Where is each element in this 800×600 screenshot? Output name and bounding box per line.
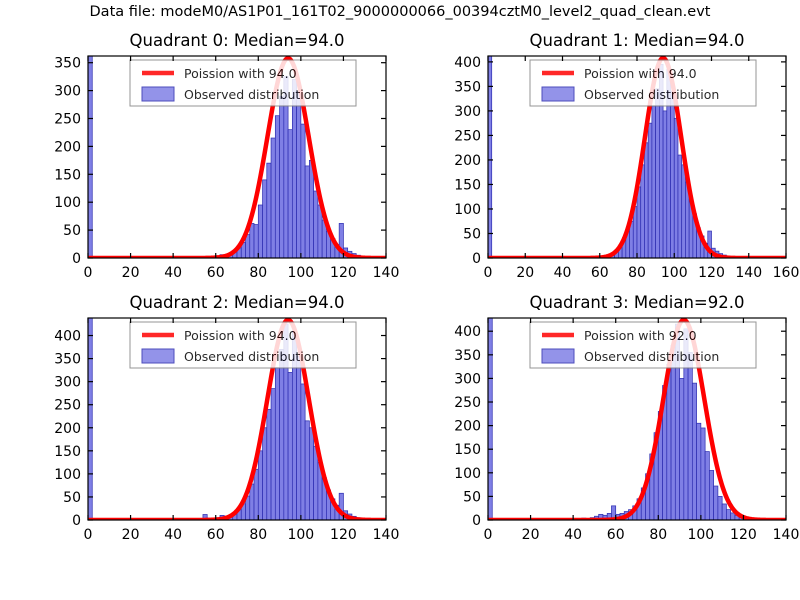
y-tick-label: 200 xyxy=(54,421,81,437)
figure-suptitle: Data file: modeM0/AS1P01_161T02_90000000… xyxy=(0,4,800,20)
subplot-title: Quadrant 1: Median=94.0 xyxy=(530,31,745,50)
x-tick-label: 140 xyxy=(373,527,400,543)
x-tick-label: 20 xyxy=(522,527,540,543)
y-tick-label: 350 xyxy=(454,348,481,364)
legend-label: Observed distribution xyxy=(184,87,319,102)
x-tick-label: 20 xyxy=(122,527,140,543)
x-tick-label: 20 xyxy=(122,265,140,281)
x-tick-label: 0 xyxy=(484,527,493,543)
y-tick-label: 250 xyxy=(454,128,481,144)
x-tick-label: 60 xyxy=(607,527,625,543)
y-tick-label: 350 xyxy=(454,79,481,95)
x-tick-label: 40 xyxy=(164,527,182,543)
subplot-quadrant-0: Quadrant 0: Median=94.0Poission with 94.… xyxy=(0,26,400,298)
y-tick-label: 300 xyxy=(54,84,81,100)
subplot-title: Quadrant 0: Median=94.0 xyxy=(130,31,345,50)
x-tick-label: 60 xyxy=(591,265,609,281)
y-tick-label: 200 xyxy=(454,419,481,435)
y-tick-label: 100 xyxy=(454,466,481,482)
y-tick-label: 400 xyxy=(54,329,81,345)
y-tick-label: 300 xyxy=(454,104,481,120)
y-tick-label: 200 xyxy=(454,153,481,169)
y-tick-label: 250 xyxy=(454,395,481,411)
x-tick-label: 40 xyxy=(564,527,582,543)
y-tick-label: 0 xyxy=(72,251,81,267)
x-tick-label: 100 xyxy=(287,265,314,281)
y-tick-label: 350 xyxy=(54,56,81,72)
x-tick-label: 140 xyxy=(773,527,800,543)
x-tick-label: 140 xyxy=(735,265,762,281)
y-tick-label: 400 xyxy=(454,324,481,340)
y-tick-label: 50 xyxy=(463,489,481,505)
x-tick-label: 120 xyxy=(330,265,357,281)
y-tick-label: 300 xyxy=(54,375,81,391)
y-tick-label: 150 xyxy=(454,442,481,458)
x-tick-label: 120 xyxy=(330,527,357,543)
legend-label: Observed distribution xyxy=(584,87,719,102)
subplot-quadrant-1: Quadrant 1: Median=94.0Poission with 94.… xyxy=(400,26,800,298)
legend-label: Observed distribution xyxy=(184,349,319,364)
x-tick-label: 20 xyxy=(516,265,534,281)
y-tick-label: 0 xyxy=(472,251,481,267)
legend-patch-swatch xyxy=(542,87,574,101)
x-tick-label: 60 xyxy=(207,265,225,281)
subplot-title: Quadrant 2: Median=94.0 xyxy=(130,293,345,312)
y-tick-label: 100 xyxy=(54,195,81,211)
legend-label: Observed distribution xyxy=(584,349,719,364)
x-tick-label: 100 xyxy=(687,527,714,543)
x-tick-label: 80 xyxy=(649,527,667,543)
subplot-quadrant-3: Quadrant 3: Median=92.0Poission with 92.… xyxy=(400,288,800,560)
legend-patch-swatch xyxy=(142,349,174,363)
x-tick-label: 40 xyxy=(164,265,182,281)
y-tick-label: 200 xyxy=(54,139,81,155)
subplot-title: Quadrant 3: Median=92.0 xyxy=(530,293,745,312)
x-tick-label: 80 xyxy=(628,265,646,281)
y-tick-label: 50 xyxy=(463,226,481,242)
y-tick-label: 150 xyxy=(54,167,81,183)
x-tick-label: 140 xyxy=(373,265,400,281)
legend-label: Poission with 92.0 xyxy=(584,328,697,343)
y-tick-label: 50 xyxy=(63,223,81,239)
x-tick-label: 100 xyxy=(661,265,688,281)
x-tick-label: 0 xyxy=(484,265,493,281)
x-tick-label: 0 xyxy=(84,265,93,281)
x-tick-label: 0 xyxy=(84,527,93,543)
y-tick-label: 350 xyxy=(54,352,81,368)
x-tick-label: 80 xyxy=(249,527,267,543)
x-tick-label: 80 xyxy=(249,265,267,281)
x-tick-label: 40 xyxy=(554,265,572,281)
y-tick-label: 150 xyxy=(54,444,81,460)
legend: Poission with 94.0Observed distribution xyxy=(130,322,356,368)
x-tick-label: 120 xyxy=(698,265,725,281)
legend-label: Poission with 94.0 xyxy=(184,66,297,81)
legend-patch-swatch xyxy=(142,87,174,101)
y-tick-label: 50 xyxy=(63,490,81,506)
legend-label: Poission with 94.0 xyxy=(184,328,297,343)
legend-patch-swatch xyxy=(542,349,574,363)
y-tick-label: 250 xyxy=(54,111,81,127)
y-tick-label: 250 xyxy=(54,398,81,414)
y-tick-label: 100 xyxy=(454,202,481,218)
legend: Poission with 94.0Observed distribution xyxy=(530,60,756,106)
y-tick-label: 300 xyxy=(454,371,481,387)
subplot-quadrant-2: Quadrant 2: Median=94.0Poission with 94.… xyxy=(0,288,400,560)
y-tick-label: 150 xyxy=(454,177,481,193)
y-tick-label: 100 xyxy=(54,467,81,483)
x-tick-label: 120 xyxy=(730,527,757,543)
legend-label: Poission with 94.0 xyxy=(584,66,697,81)
legend: Poission with 94.0Observed distribution xyxy=(130,60,356,106)
x-tick-label: 100 xyxy=(287,527,314,543)
x-tick-label: 160 xyxy=(773,265,800,281)
figure-canvas: Data file: modeM0/AS1P01_161T02_90000000… xyxy=(0,0,800,600)
x-tick-label: 60 xyxy=(207,527,225,543)
y-tick-label: 400 xyxy=(454,55,481,71)
y-tick-label: 0 xyxy=(472,513,481,529)
legend: Poission with 92.0Observed distribution xyxy=(530,322,756,368)
y-tick-label: 0 xyxy=(72,513,81,529)
